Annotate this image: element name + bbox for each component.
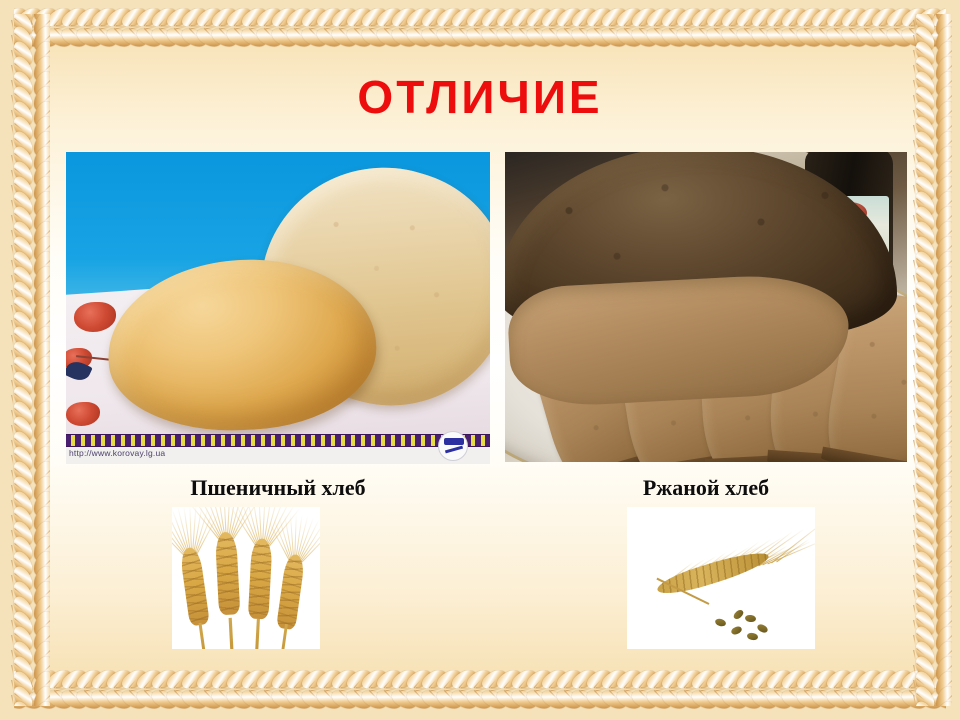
wheat-ear — [276, 553, 305, 627]
wheat-stalk — [255, 619, 260, 649]
wheat-bread-photo: http://www.korovay.lg.ua — [66, 152, 490, 464]
rye-grain — [745, 614, 757, 622]
slide: ОТЛИЧИЕ http://www.korovay.lg.ua OUS VAL… — [0, 0, 960, 720]
wheat-ear — [248, 538, 273, 622]
rye-bread-photo: OUS VALNIEKSTU ELLA 100% — [505, 152, 907, 462]
rye-grain — [746, 632, 758, 641]
wheat-ears-illustration — [172, 507, 320, 649]
rye-grain — [714, 617, 727, 627]
caption-wheat-bread: Пшеничный хлеб — [66, 475, 490, 501]
wheat-ear — [179, 546, 210, 626]
photo-watermark-strip: http://www.korovay.lg.ua — [66, 434, 490, 464]
watermark-pattern-bar — [66, 434, 490, 447]
slide-title: ОТЛИЧИЕ — [0, 70, 960, 124]
wheat-spike — [248, 538, 273, 619]
caption-rye-bread: Ржаной хлеб — [505, 475, 907, 501]
rye-ear-illustration — [627, 507, 815, 649]
rye-ear-graphic — [645, 533, 785, 609]
rye-grain — [732, 608, 745, 620]
wheat-stalk — [229, 617, 234, 649]
rye-grain — [756, 623, 769, 635]
wheat-stalk — [198, 623, 205, 649]
slice-crust — [821, 447, 907, 462]
korovay-logo-icon — [438, 431, 468, 461]
rye-grain — [730, 625, 743, 636]
watermark-url: http://www.korovay.lg.ua — [69, 448, 165, 458]
border-braid-top — [14, 8, 946, 50]
border-braid-bottom — [14, 670, 946, 712]
